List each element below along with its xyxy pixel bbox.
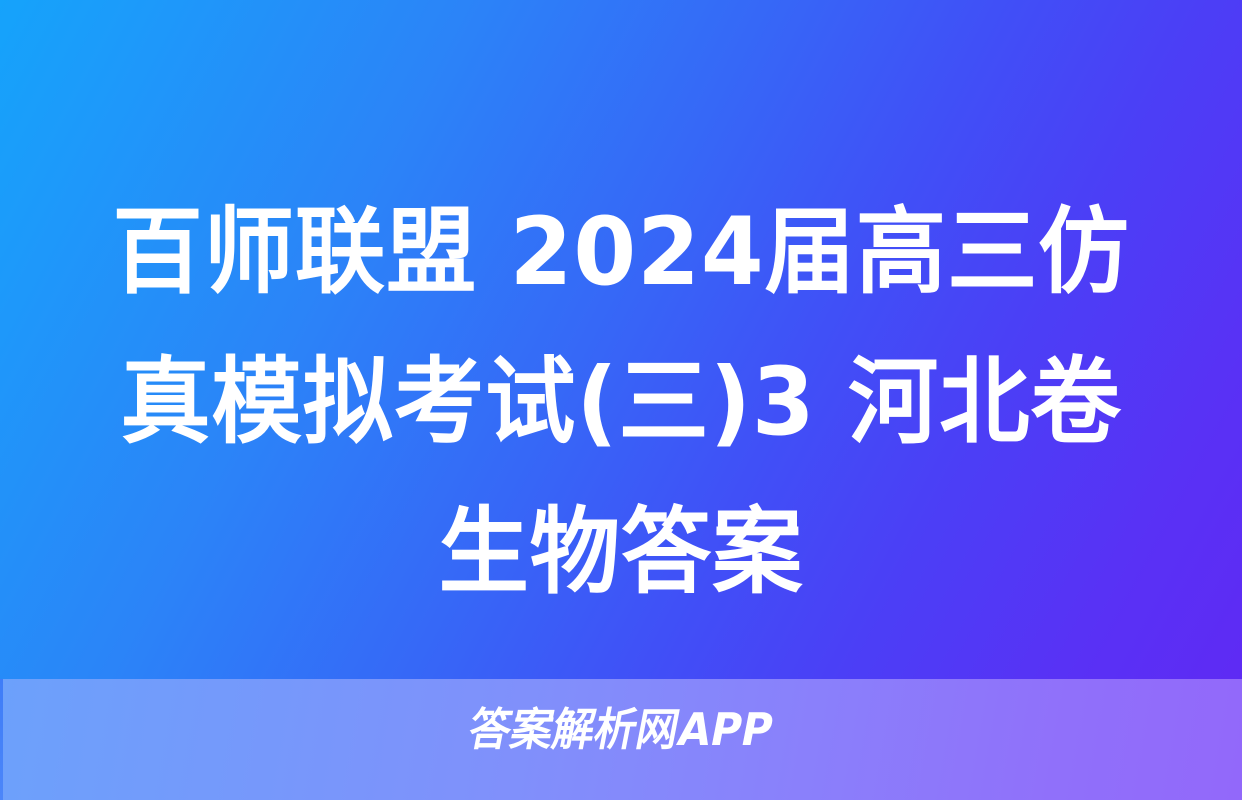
title-line-1: 百师联盟 2024届高三仿 (25, 178, 1217, 328)
title-line-2: 真模拟考试(三)3 河北卷 (25, 328, 1217, 478)
watermark: 答案解析网APP (0, 703, 1242, 757)
page-title: 百师联盟 2024届高三仿 真模拟考试(三)3 河北卷 生物答案 (0, 178, 1242, 628)
title-line-3: 生物答案 (25, 478, 1217, 628)
answer-poster: 百师联盟 2024届高三仿 真模拟考试(三)3 河北卷 生物答案 答案解析网AP… (0, 0, 1242, 800)
watermark-brand-label: 答案解析网APP (464, 703, 777, 757)
